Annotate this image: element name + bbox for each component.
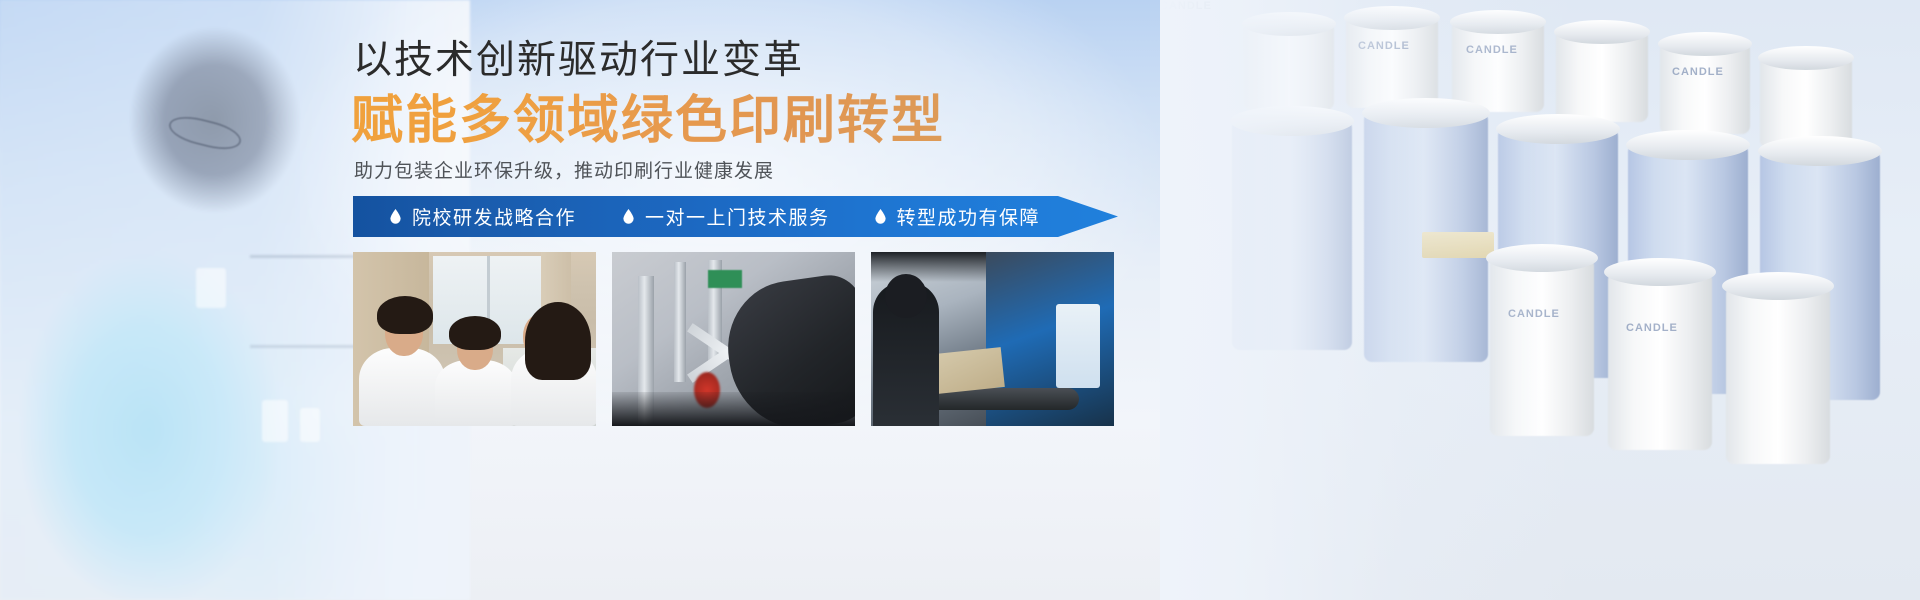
banner-headline: 赋能多领域绿色印刷转型: [351, 92, 945, 150]
thumbnail-image: [612, 252, 855, 426]
feature-label: 院校研发战略合作: [412, 203, 576, 230]
feature-item-1[interactable]: 院校研发战略合作: [390, 203, 576, 230]
droplet-icon: [390, 209, 401, 224]
feature-item-3[interactable]: 转型成功有保障: [875, 203, 1041, 230]
thumbnail-image: [871, 252, 1114, 426]
feature-item-2[interactable]: 一对一上门技术服务: [623, 203, 830, 230]
thumbnail-gallery: [353, 252, 1114, 426]
banner-content: 以技术创新驱动行业变革 赋能多领域绿色印刷转型 助力包装企业环保升级，推动印刷行…: [0, 0, 1920, 600]
thumbnail-image: [353, 252, 596, 426]
feature-label: 转型成功有保障: [897, 203, 1041, 230]
feature-label: 一对一上门技术服务: [645, 203, 830, 230]
hero-banner: CANDLE CANDLE CANDLE CANDLE: [0, 0, 1920, 600]
thumbnail-coating-machine[interactable]: [612, 252, 855, 426]
droplet-icon: [875, 209, 886, 224]
thumbnail-printing-press[interactable]: [871, 252, 1114, 426]
banner-subtitle: 助力包装企业环保升级，推动印刷行业健康发展: [354, 158, 774, 185]
droplet-icon: [623, 209, 634, 224]
feature-arrow-bar: 院校研发战略合作 一对一上门技术服务 转型成功有保障: [353, 196, 1118, 237]
thumbnail-lab-students[interactable]: [353, 252, 596, 426]
banner-kicker: 以技术创新驱动行业变革: [353, 40, 804, 83]
